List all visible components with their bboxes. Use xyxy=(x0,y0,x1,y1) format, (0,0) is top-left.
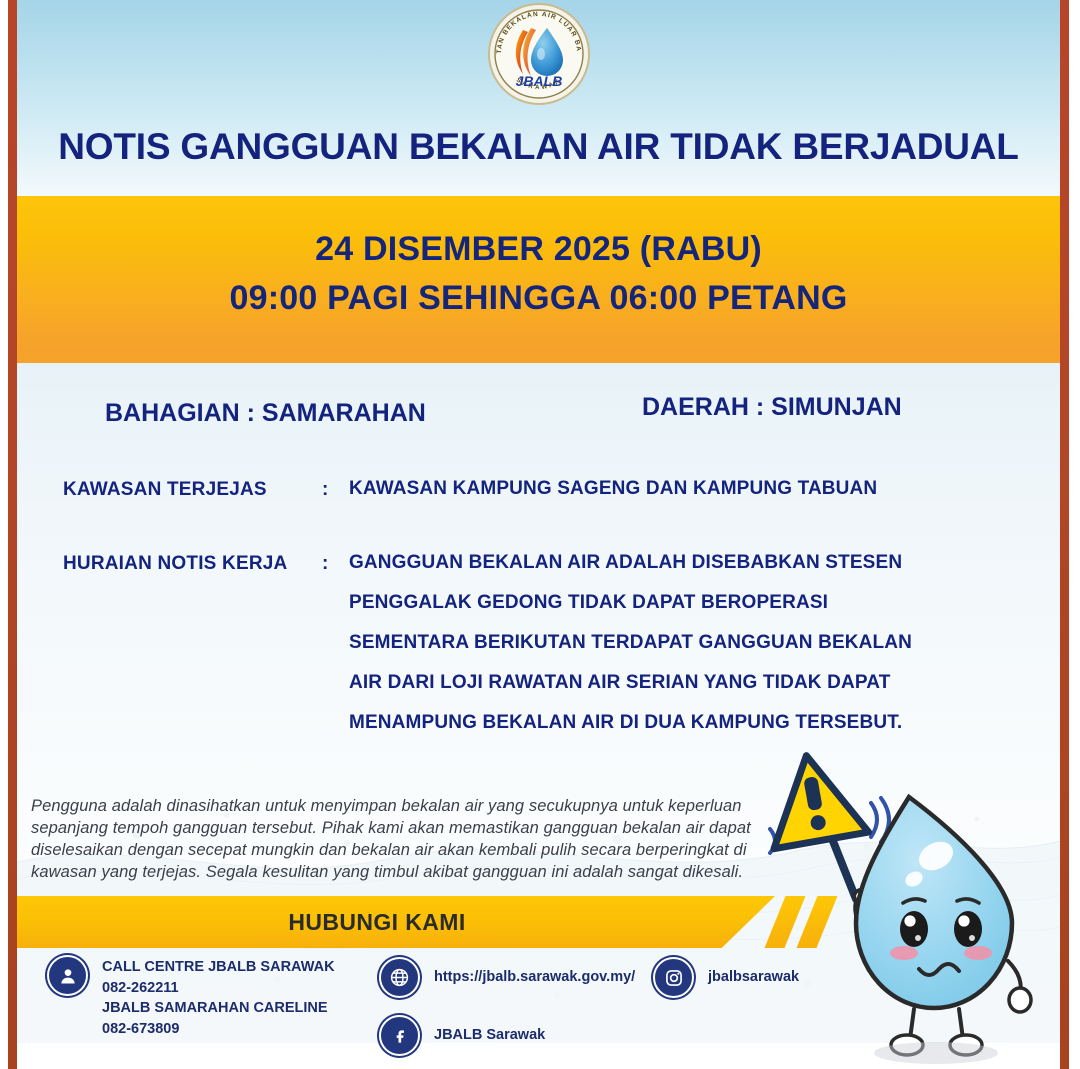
disruption-time: 09:00 PAGI SEHINGGA 06:00 PETANG xyxy=(230,274,848,322)
facebook-handle: JBALB Sarawak xyxy=(434,1015,545,1046)
instagram-icon xyxy=(653,957,694,998)
contact-website[interactable]: https://jbalb.sarawak.gov.my/ xyxy=(379,957,635,998)
call-centre-line: CALL CENTRE JBALB SARAWAK xyxy=(102,957,335,978)
region-row: BAHAGIAN : SAMARAHAN DAERAH : SIMUNJAN xyxy=(17,393,1060,441)
call-centre-line: 082-262211 xyxy=(102,978,335,999)
disruption-date: 24 DISEMBER 2025 (RABU) xyxy=(315,225,762,273)
date-time-band: 24 DISEMBER 2025 (RABU) 09:00 PAGI SEHIN… xyxy=(17,196,1060,363)
work-notice-value: GANGGUAN BEKALAN AIR ADALAH DISEBABKAN S… xyxy=(349,553,1020,732)
person-icon xyxy=(47,955,88,996)
right-margin xyxy=(1069,0,1080,1069)
affected-area-line: KAWASAN KAMPUNG SAGENG DAN KAMPUNG TABUA… xyxy=(349,479,1020,498)
advisory-paragraph: Pengguna adalah dinasihatkan untuk menyi… xyxy=(31,796,791,884)
poster-header: JABATAN BEKALAN AIR LUAR BANDAR SARAWAK … xyxy=(17,0,1060,196)
work-notice-line: MENAMPUNG BEKALAN AIR DI DUA KAMPUNG TER… xyxy=(349,713,1020,732)
work-notice-colon: : xyxy=(322,553,328,575)
work-notice-label: HURAIAN NOTIS KERJA xyxy=(63,553,325,575)
facebook-icon xyxy=(379,1015,420,1056)
water-droplet-mascot xyxy=(764,751,1054,1069)
call-centre-text: CALL CENTRE JBALB SARAWAK 082-262211 JBA… xyxy=(102,955,335,1039)
daerah-label: DAERAH : SIMUNJAN xyxy=(642,393,902,422)
work-notice-line: PENGGALAK GEDONG TIDAK DAPAT BEROPERASI xyxy=(349,593,1020,612)
poster-body: BAHAGIAN : SAMARAHAN DAERAH : SIMUNJAN K… xyxy=(17,363,1060,1069)
work-notice-line: SEMENTARA BERIKUTAN TERDAPAT GANGGUAN BE… xyxy=(349,633,1020,652)
website-url: https://jbalb.sarawak.gov.my/ xyxy=(434,957,635,988)
globe-icon xyxy=(379,957,420,998)
contact-facebook[interactable]: JBALB Sarawak xyxy=(379,1015,545,1056)
left-margin xyxy=(0,0,8,1069)
jbalb-logo: JABATAN BEKALAN AIR LUAR BANDAR SARAWAK … xyxy=(487,2,591,106)
page-title: NOTIS GANGGUAN BEKALAN AIR TIDAK BERJADU… xyxy=(17,126,1060,168)
right-border-stripe xyxy=(1060,0,1069,1069)
contact-call-centre[interactable]: CALL CENTRE JBALB SARAWAK 082-262211 JBA… xyxy=(47,955,335,1039)
bahagian-label: BAHAGIAN : SAMARAHAN xyxy=(105,399,426,428)
affected-area-value: KAWASAN KAMPUNG SAGENG DAN KAMPUNG TABUA… xyxy=(349,479,1020,498)
call-centre-line: JBALB SAMARAHAN CARELINE xyxy=(102,998,335,1019)
work-notice-line: GANGGUAN BEKALAN AIR ADALAH DISEBABKAN S… xyxy=(349,553,1020,572)
water-disruption-notice-poster: JABATAN BEKALAN AIR LUAR BANDAR SARAWAK … xyxy=(0,0,1080,1069)
affected-area-label: KAWASAN TERJEJAS xyxy=(63,479,325,501)
work-notice-line: AIR DARI LOJI RAWATAN AIR SERIAN YANG TI… xyxy=(349,673,1020,692)
left-border-stripe xyxy=(8,0,17,1069)
call-centre-line: 082-673809 xyxy=(102,1019,335,1040)
svg-text:JBALB: JBALB xyxy=(515,73,562,89)
contact-banner-title: HUBUNGI KAMI xyxy=(17,909,737,936)
affected-area-colon: : xyxy=(322,479,328,501)
